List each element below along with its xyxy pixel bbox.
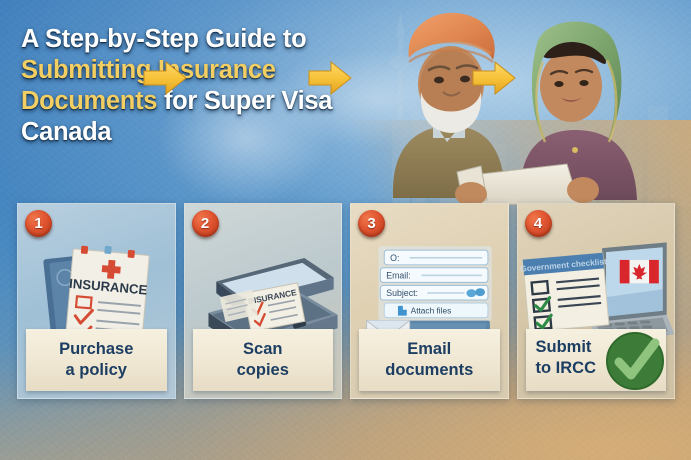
step-3-caption-line2: documents (385, 360, 473, 381)
title-line-3: Documents for Super Visa (21, 86, 421, 117)
step-2-caption-line2: copies (237, 360, 289, 381)
step-3-caption-line1: Email (407, 339, 451, 360)
step-card-3[interactable]: O: Email: Subject: Attach files (350, 203, 509, 399)
arrow-step3-to-step4 (471, 59, 517, 97)
step-4-number: 4 (525, 210, 552, 237)
email-address-label: Email: (386, 271, 410, 281)
approved-check-badge (602, 328, 668, 394)
step-1-caption-line2: a policy (66, 360, 127, 381)
email-attach-label: Attach files (411, 306, 452, 316)
arrow-step2-to-step3 (307, 59, 353, 97)
title-line-2: Submitting Insurance (21, 55, 421, 86)
poster-title: A Step-by-Step Guide to Submitting Insur… (21, 24, 421, 148)
step-2-number: 2 (192, 210, 219, 237)
title-line-1: A Step-by-Step Guide to (21, 24, 421, 55)
step-3-number: 3 (358, 210, 385, 237)
email-to-label: O: (390, 253, 399, 263)
step-card-4[interactable]: Government checklist 4 Submit to IRCC (517, 203, 676, 399)
infographic-poster: INSURANCE 1 Purchase a policy (0, 0, 691, 460)
step-2-caption: Scan copies (193, 329, 334, 391)
step-card-2[interactable]: INSURANCE 2 Scan copies (184, 203, 343, 399)
step-1-caption: Purchase a policy (26, 329, 167, 391)
title-line-3-gold: Documents (21, 87, 157, 115)
step-2-caption-line1: Scan (243, 339, 282, 360)
step-4-caption-line1: Submit (536, 337, 592, 358)
step-card-1[interactable]: INSURANCE 1 Purchase a policy (17, 203, 176, 399)
steps-row: INSURANCE 1 Purchase a policy (17, 203, 675, 399)
title-line-4: Canada (21, 117, 421, 148)
email-subject-label: Subject: (386, 288, 418, 298)
step-1-caption-line1: Purchase (59, 339, 133, 360)
step-4-caption-line2: to IRCC (536, 358, 597, 379)
step-1-number: 1 (25, 210, 52, 237)
step-3-caption: Email documents (359, 329, 500, 391)
arrow-step1-to-step2 (142, 59, 188, 97)
